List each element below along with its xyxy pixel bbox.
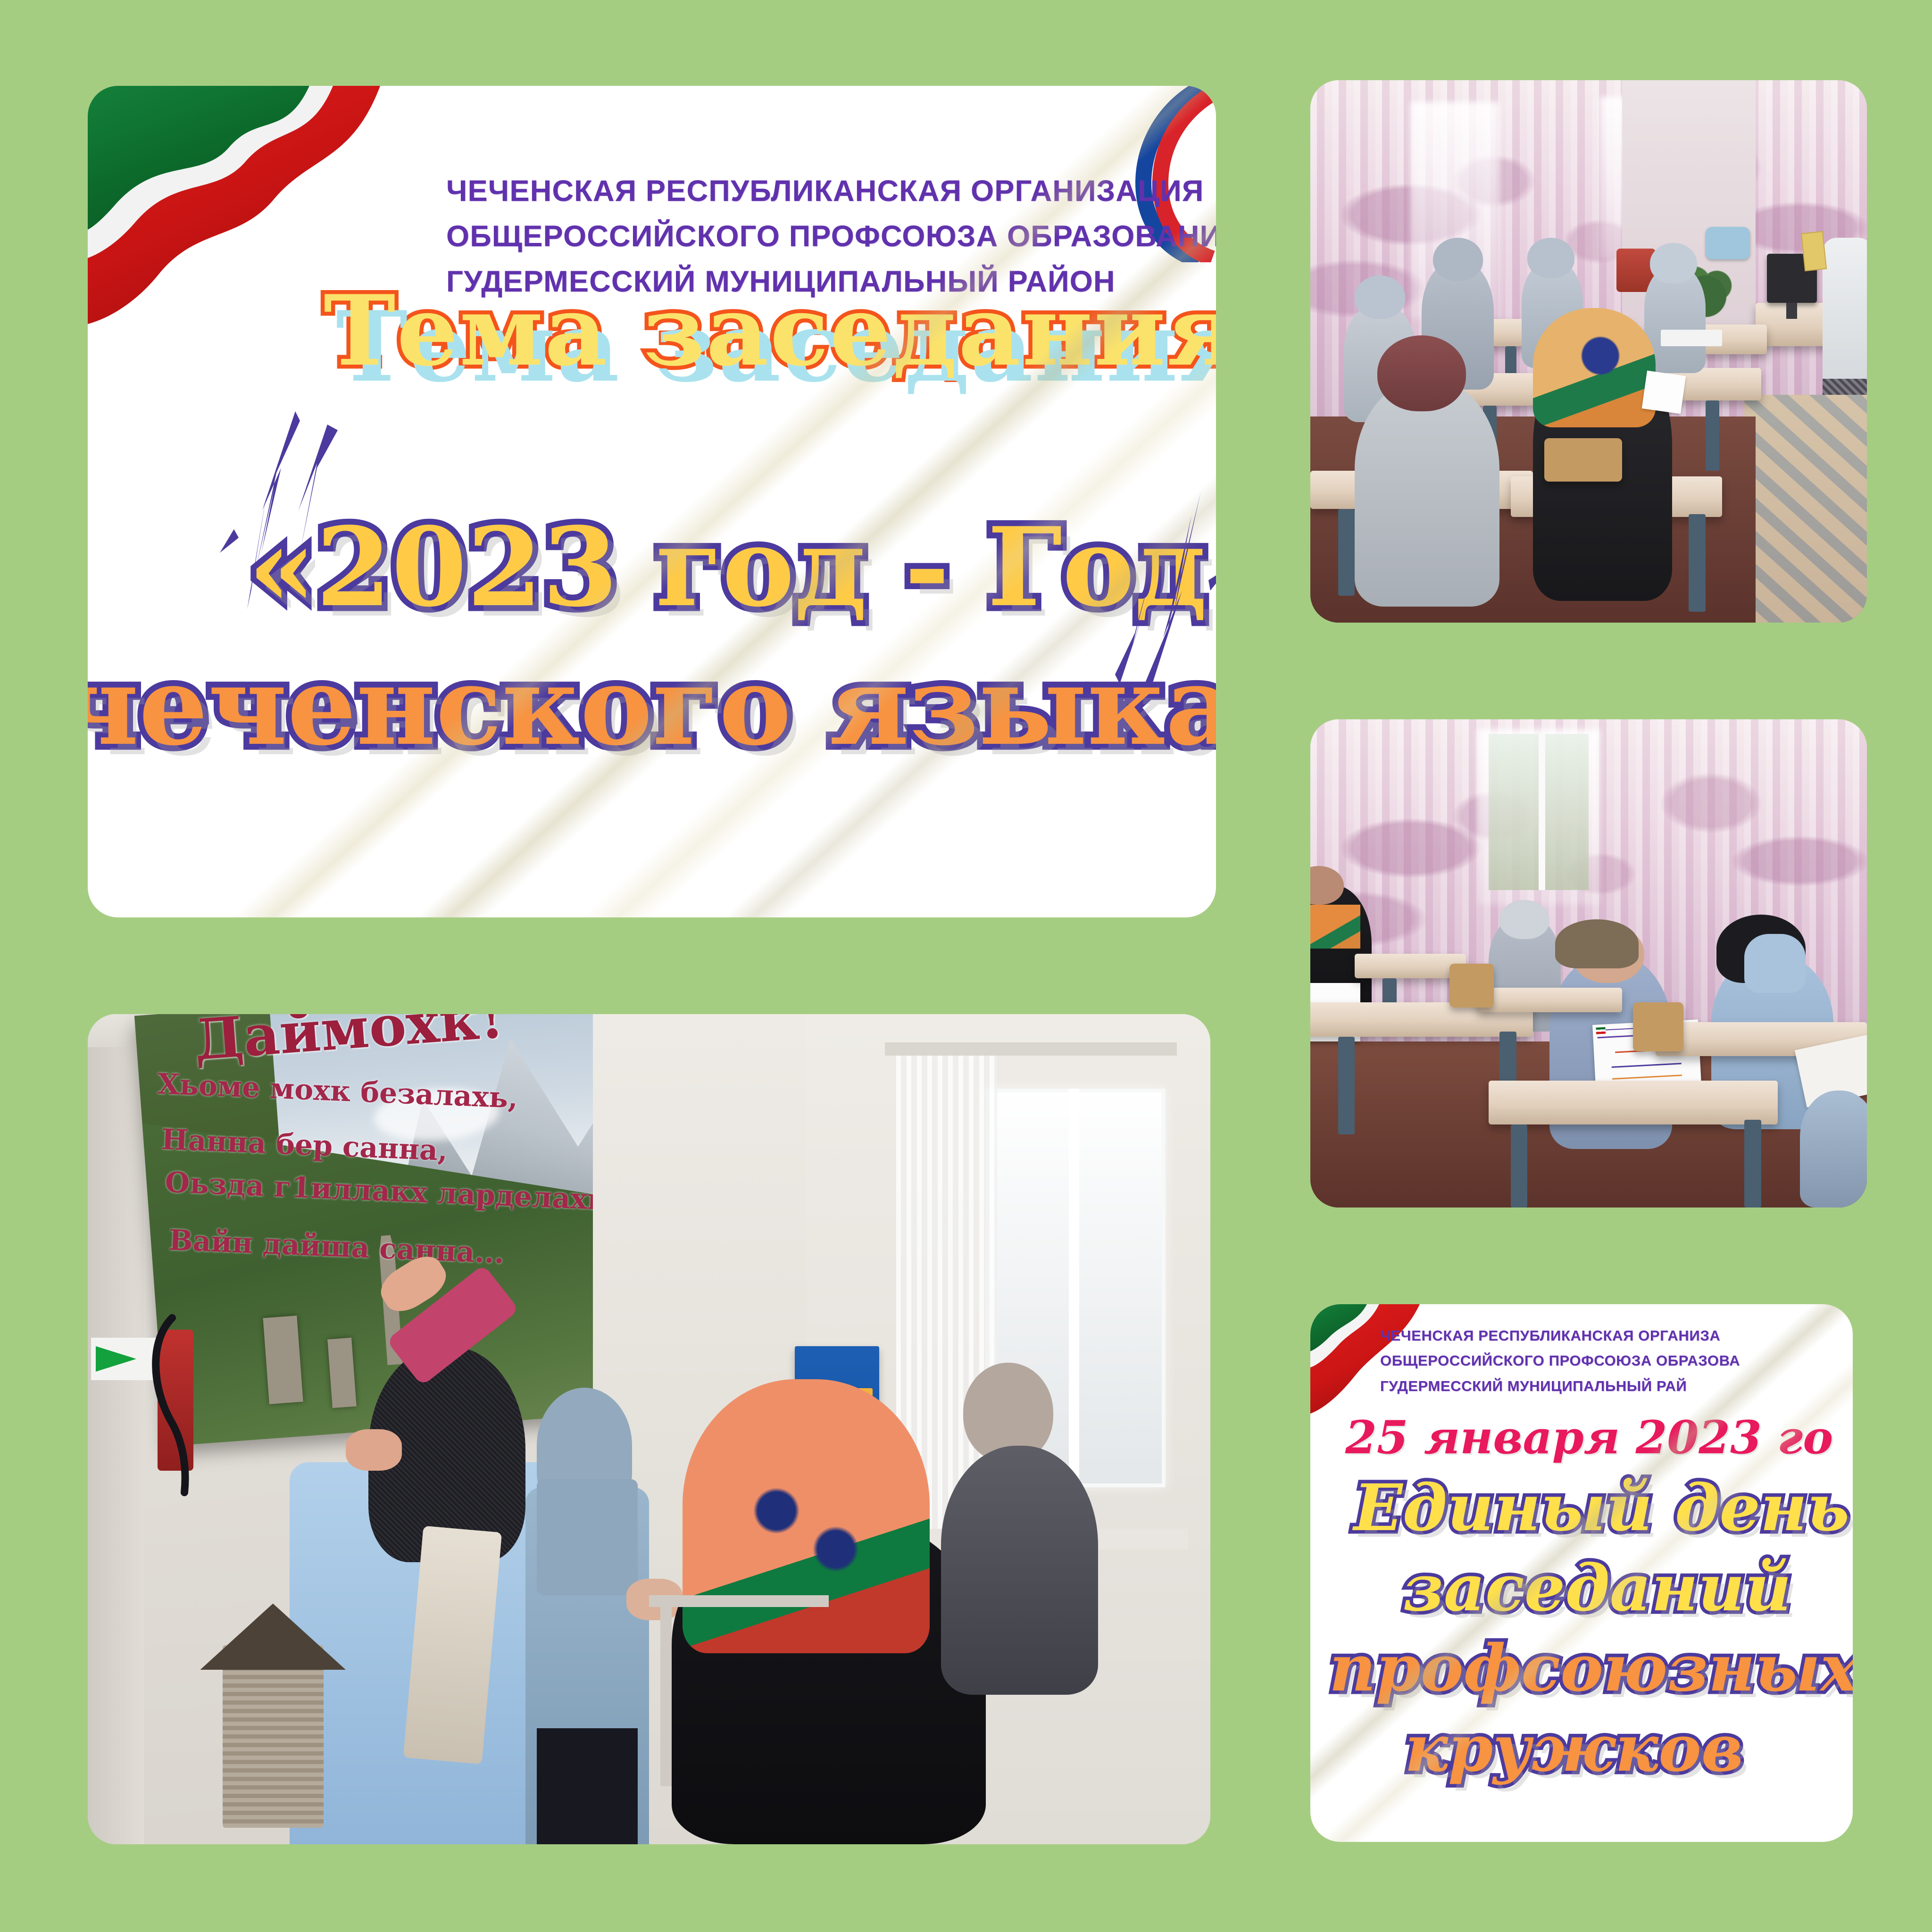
- meeting-topic-heading: Тема заседания:: [324, 275, 1216, 388]
- photo-poster-room: Даймохк! Хьоме мохк безалахь, Нанна бер …: [88, 1014, 1210, 1844]
- info-org-line-3: ГУДЕРМЕССКИЙ МУНИЦИПАЛЬНЫЙ РАЙ: [1380, 1374, 1740, 1399]
- info-org-line-1: ЧЕЧЕНСКАЯ РЕСПУБЛИКАНСКАЯ ОРГАНИЗА: [1380, 1323, 1740, 1348]
- org-line-2: ОБЩЕРОССИЙСКОГО ПРОФСОЮЗА ОБРАЗОВАНИЯ: [446, 214, 1216, 259]
- event-date: 25 января 2023 го: [1345, 1411, 1833, 1464]
- info-line-4: кружков: [1405, 1711, 1743, 1786]
- title-card: ЧЕЧЕНСКАЯ РЕСПУБЛИКАНСКАЯ ОРГАНИЗАЦИЯ ОБ…: [88, 86, 1216, 917]
- fire-hose-icon: [144, 1313, 229, 1502]
- collage-canvas: ЧЕЧЕНСКАЯ РЕСПУБЛИКАНСКАЯ ОРГАНИЗАЦИЯ ОБ…: [0, 0, 1932, 1932]
- org-line-1: ЧЕЧЕНСКАЯ РЕСПУБЛИКАНСКАЯ ОРГАНИЗАЦИЯ: [446, 169, 1216, 214]
- info-line-2: заседаний: [1403, 1550, 1791, 1626]
- photo-seated-teachers: [1310, 719, 1867, 1207]
- info-line-1: Единый день: [1354, 1470, 1849, 1546]
- info-line-3: профсоюзных: [1329, 1631, 1853, 1706]
- info-org-line-2: ОБЩЕРОССИЙСКОГО ПРОФСОЮЗА ОБРАЗОВА: [1380, 1348, 1740, 1373]
- photo-classroom-rows: [1310, 80, 1867, 623]
- theme-line-2: чеченского языка»: [88, 642, 1216, 770]
- info-org-heading: ЧЕЧЕНСКАЯ РЕСПУБЛИКАНСКАЯ ОРГАНИЗА ОБЩЕР…: [1380, 1323, 1740, 1399]
- info-card: ЧЕЧЕНСКАЯ РЕСПУБЛИКАНСКАЯ ОРГАНИЗА ОБЩЕР…: [1310, 1304, 1853, 1842]
- theme-line-1: «2023 год - Год: [248, 504, 1207, 631]
